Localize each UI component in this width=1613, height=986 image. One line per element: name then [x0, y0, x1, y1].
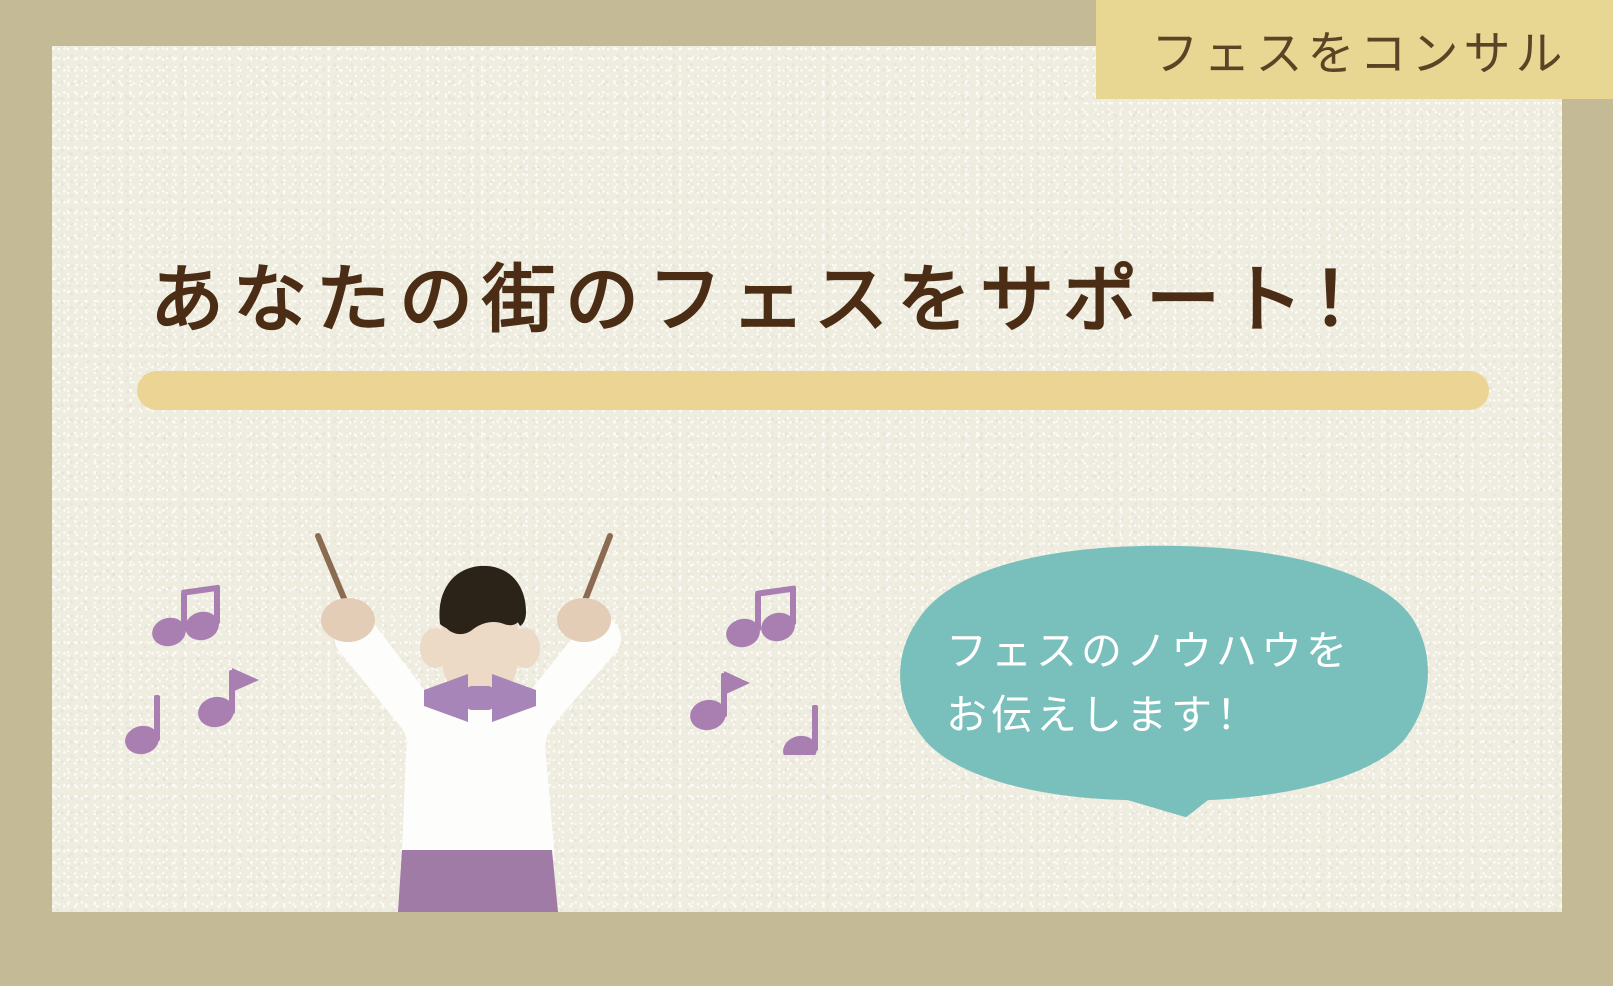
beamed-eighth-note-pair-icon — [723, 585, 798, 650]
corner-badge-label: フェスをコンサル — [1142, 15, 1568, 84]
speech-bubble: フェスのノウハウを お伝えします！ — [888, 542, 1433, 822]
speech-bubble-line-1: フェスのノウハウを — [946, 620, 1416, 684]
baton-right-icon — [582, 536, 610, 608]
conductor-hand-right — [557, 598, 611, 642]
speech-bubble-line-2: お伝えします！ — [946, 684, 1416, 748]
headline-underline-bar — [137, 371, 1489, 410]
poster-canvas: フェスをコンサル あなたの街のフェスをサポート！ — [0, 0, 1613, 986]
conductor-illustration — [290, 520, 670, 912]
music-notes-right-cluster — [660, 565, 820, 755]
eighth-note-icon — [687, 671, 750, 733]
quarter-note-icon — [780, 705, 819, 755]
corner-badge: フェスをコンサル — [1096, 0, 1613, 99]
music-notes-left-cluster — [112, 560, 292, 760]
baton-left-icon — [318, 536, 348, 608]
page-title: あなたの街のフェスをサポート！ — [150, 240, 1510, 347]
quarter-note-icon — [122, 695, 161, 757]
beamed-eighth-note-pair-icon — [149, 585, 222, 650]
conductor-hand-left — [321, 598, 375, 642]
speech-bubble-text: フェスのノウハウを お伝えします！ — [946, 620, 1416, 747]
eighth-note-icon — [195, 668, 259, 730]
conductor-trousers — [398, 850, 558, 912]
